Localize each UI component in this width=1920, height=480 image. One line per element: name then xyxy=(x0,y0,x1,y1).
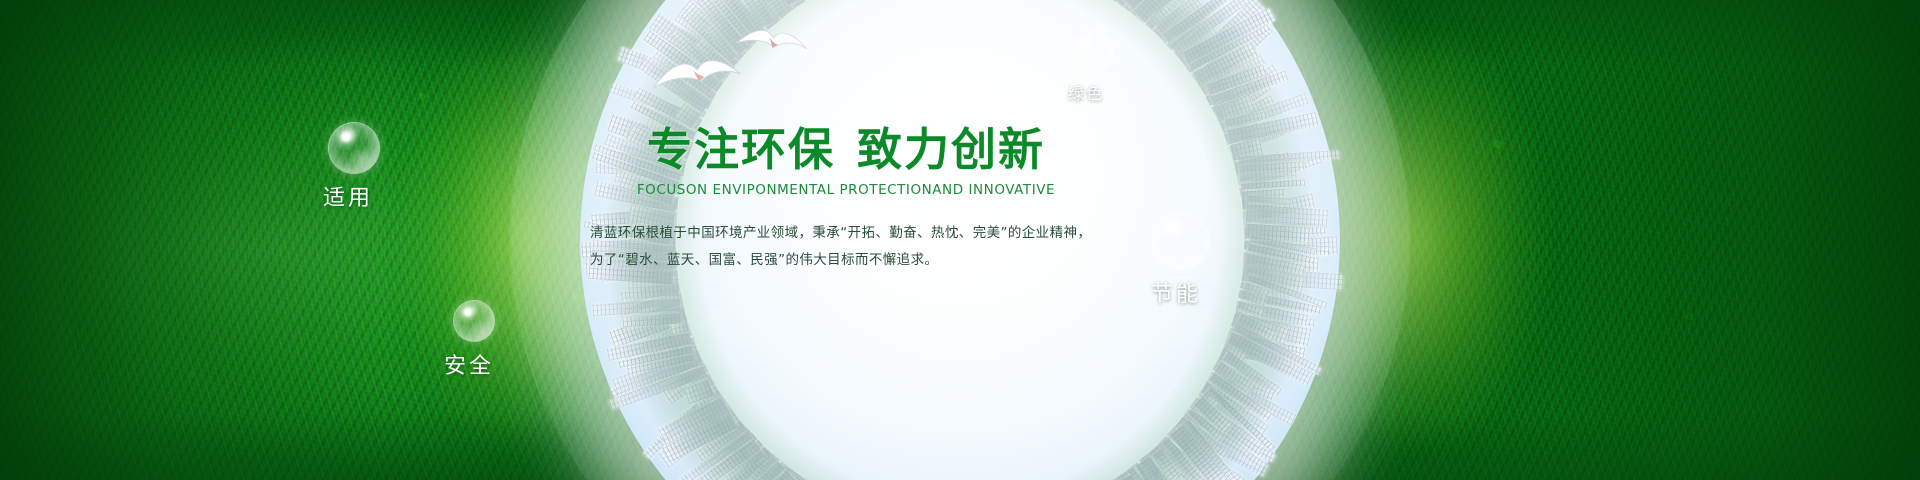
bubble-item-green: 绿色 xyxy=(1058,30,1114,104)
seagull-icon xyxy=(733,20,812,64)
bubble-icon xyxy=(453,300,495,342)
headline-part-1: 专注环保 xyxy=(647,123,835,176)
hero-banner: 专注环保致力创新 FOCUSON ENVIPONMENTAL PROTECTIO… xyxy=(0,0,1920,480)
paragraph-line-1: 清蓝环保根植于中国环境产业领域，秉承“开拓、勤奋、热忱、完美”的企业精神， xyxy=(590,220,1106,247)
subtitle-english: FOCUSON ENVIPONMENTAL PROTECTIONAND INNO… xyxy=(586,182,1106,198)
bubble-icon xyxy=(1070,30,1114,74)
bubble-item-applicable: 适用 xyxy=(316,122,380,212)
bubble-label: 绿色 xyxy=(1058,80,1114,104)
bubble-item-safety: 安全 xyxy=(443,300,495,380)
seagull-icon xyxy=(645,46,746,105)
bubble-item-energysaving: 节能 xyxy=(1142,212,1210,308)
birds-group xyxy=(640,14,860,110)
bubble-label: 节能 xyxy=(1142,276,1210,308)
bubble-icon xyxy=(1152,212,1210,270)
copy-block: 专注环保致力创新 FOCUSON ENVIPONMENTAL PROTECTIO… xyxy=(586,126,1106,274)
bubble-icon xyxy=(328,122,380,174)
bubble-label: 适用 xyxy=(316,180,380,212)
headline-part-2: 致力创新 xyxy=(857,123,1045,176)
page-title: 专注环保致力创新 xyxy=(586,126,1106,174)
bubble-label: 安全 xyxy=(443,348,495,380)
description-paragraph: 清蓝环保根植于中国环境产业领域，秉承“开拓、勤奋、热忱、完美”的企业精神， 为了… xyxy=(586,220,1106,274)
paragraph-line-2: 为了“碧水、蓝天、国富、民强”的伟大目标而不懈追求。 xyxy=(590,247,1106,274)
